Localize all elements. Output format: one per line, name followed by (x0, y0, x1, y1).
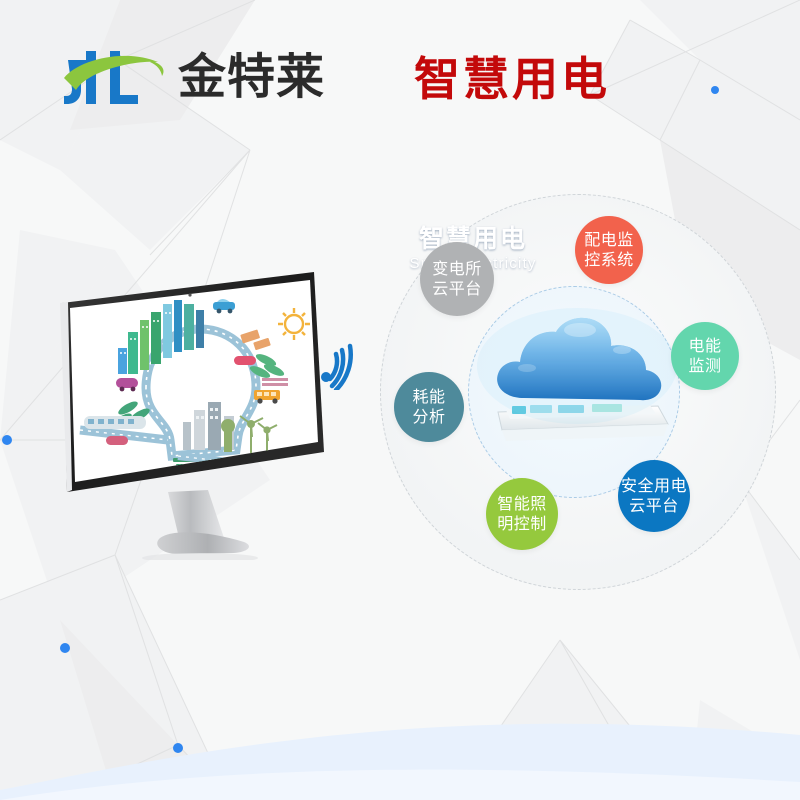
bubble-line: 云平台 (432, 279, 482, 299)
bubble-smart-lighting-control[interactable]: 智能照 明控制 (486, 478, 558, 550)
bubble-line: 安全用电 (621, 476, 687, 496)
jtl-monogram-icon (62, 48, 172, 108)
desktop-monitor-icon (48, 270, 338, 560)
bubble-line: 智能照 (497, 494, 547, 514)
poster-canvas: 金特莱 智慧用电 (0, 0, 800, 800)
bubble-line: 监测 (688, 356, 721, 376)
bubble-distribution-monitoring-system[interactable]: 配电监 控系统 (575, 216, 643, 284)
cloud-icon (472, 306, 682, 456)
bubble-line: 变电所 (432, 259, 482, 279)
bubble-line: 控系统 (584, 250, 634, 270)
bubble-line: 耗能 (412, 387, 445, 407)
brand-name: 金特莱 (178, 48, 325, 106)
bubble-safe-electricity-cloud-platform[interactable]: 安全用电 云平台 (618, 460, 690, 532)
wifi-signal-icon (314, 332, 376, 390)
header: 金特莱 智慧用电 (0, 0, 800, 150)
smart-electricity-diagram: 智慧用电 Smart electricity 变电所 云平台 配电监 控系统 电… (368, 188, 792, 592)
bubble-power-monitoring[interactable]: 电能 监测 (671, 322, 739, 390)
network-node (173, 743, 183, 753)
network-node (60, 643, 70, 653)
page-title: 智慧用电 (414, 50, 610, 108)
bubble-substation-cloud-platform[interactable]: 变电所 云平台 (420, 242, 494, 316)
bubble-line: 明控制 (497, 514, 547, 534)
bubble-line: 电能 (688, 336, 721, 356)
bubble-energy-consumption-analysis[interactable]: 耗能 分析 (394, 372, 464, 442)
bubble-line: 分析 (412, 407, 445, 427)
bubble-line: 配电监 (584, 230, 634, 250)
bubble-line: 云平台 (629, 496, 679, 516)
network-node (2, 435, 12, 445)
